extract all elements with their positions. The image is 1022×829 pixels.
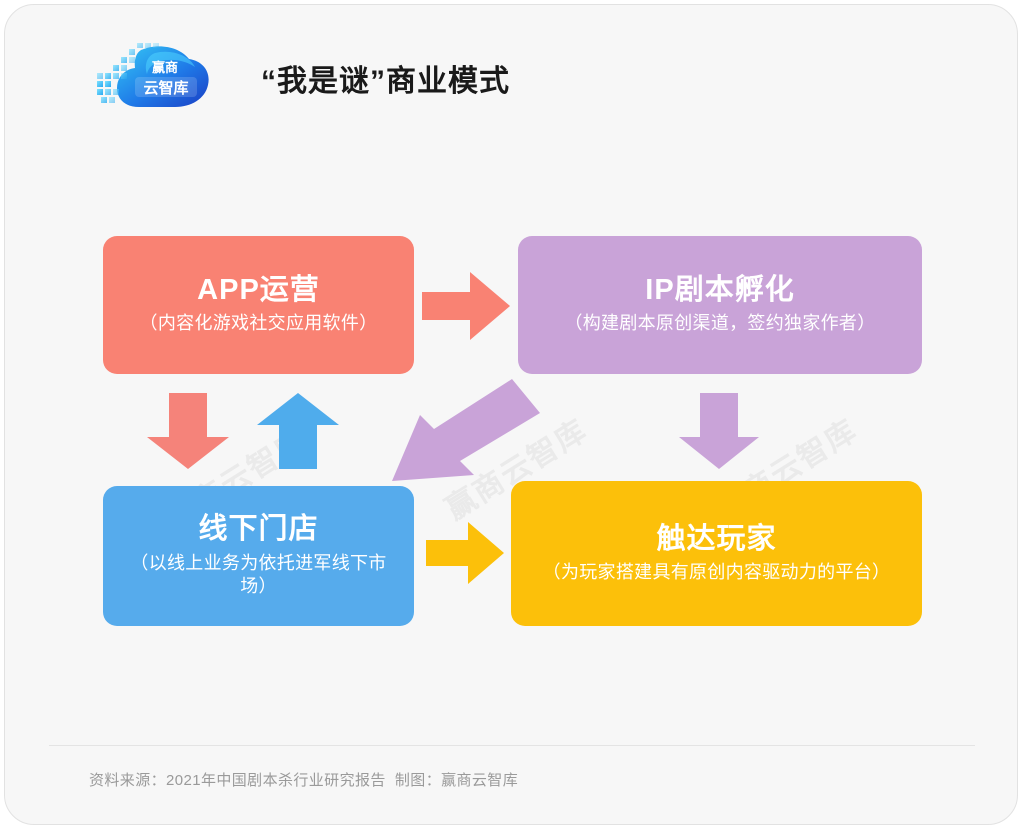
slide-header: 赢商 云智库 “我是谜”商业模式 [5, 5, 1017, 135]
node-subtitle: （内容化游戏社交应用软件） [140, 312, 378, 335]
arrow-app-to-store-icon [145, 393, 231, 469]
brand-logo: 赢商 云智库 [95, 41, 211, 111]
node-title: 触达玩家 [656, 523, 776, 556]
logo-text-line1: 赢商 [152, 60, 178, 75]
arrow-store-to-players-icon [426, 520, 504, 586]
cloud-logo-icon: 赢商 云智库 [95, 41, 211, 111]
arrow-ip-to-players-icon [677, 393, 761, 469]
node-subtitle: （以线上业务为依托进军线下市场） [117, 552, 400, 599]
arrow-ip-to-store-icon [390, 377, 542, 487]
arrow-app-to-ip-icon [422, 270, 510, 342]
node-ip-script-incubation[interactable]: IP剧本孵化 （构建剧本原创渠道，签约独家作者） [518, 236, 922, 374]
arrow-store-to-app-icon [255, 393, 341, 469]
logo-text-line2: 云智库 [143, 79, 188, 97]
node-subtitle: （为玩家搭建具有原创内容驱动力的平台） [543, 561, 891, 584]
source-note: 资料来源：2021年中国剧本杀行业研究报告 制图：赢商云智库 [89, 769, 518, 790]
slide-canvas: 赢商 云智库 “我是谜”商业模式 赢商云智库 赢商云智库 赢商云智库 [4, 4, 1018, 825]
footer-divider [49, 745, 975, 746]
node-title: 线下门店 [198, 513, 318, 546]
node-app-operations[interactable]: APP运营 （内容化游戏社交应用软件） [103, 236, 414, 374]
node-subtitle: （构建剧本原创渠道，签约独家作者） [564, 312, 875, 335]
node-offline-stores[interactable]: 线下门店 （以线上业务为依托进军线下市场） [103, 486, 414, 626]
page-title: “我是谜”商业模式 [261, 56, 510, 100]
node-title: IP剧本孵化 [645, 274, 794, 307]
node-title: APP运营 [197, 274, 320, 307]
node-reach-players[interactable]: 触达玩家 （为玩家搭建具有原创内容驱动力的平台） [511, 481, 922, 626]
